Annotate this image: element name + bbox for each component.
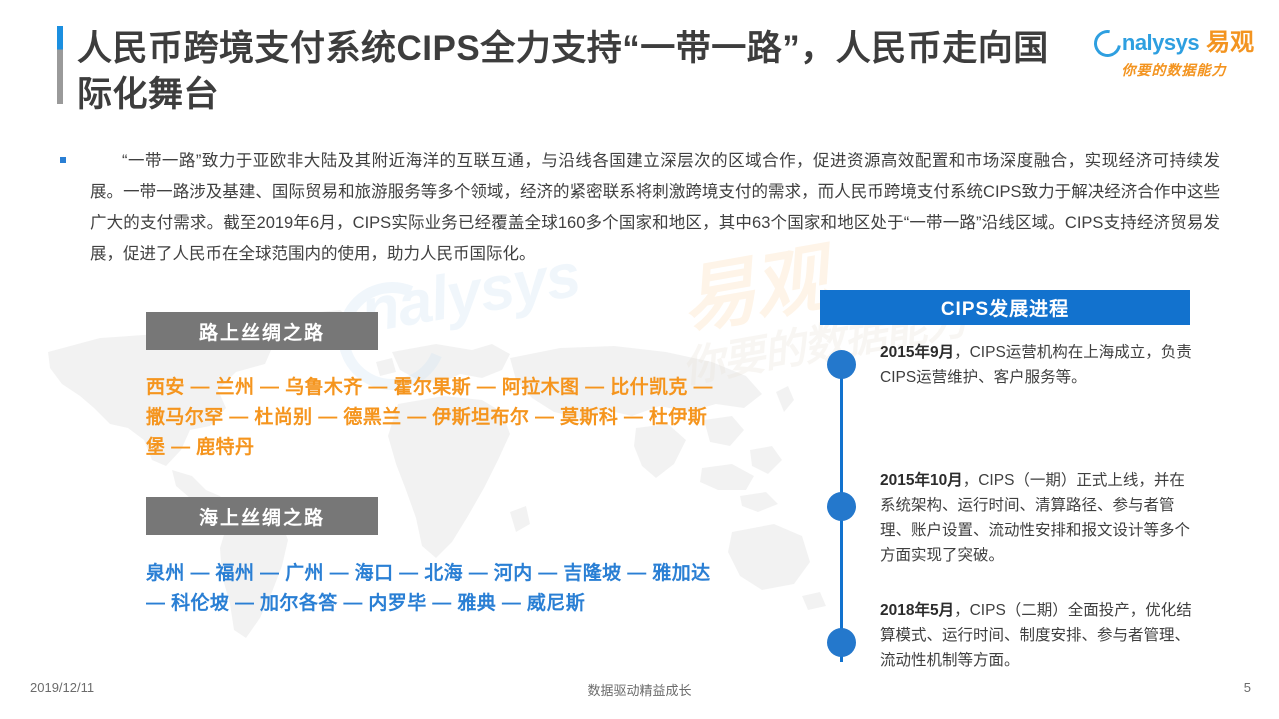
maritime-silk-road-heading: 海上丝绸之路 — [146, 497, 378, 535]
footer-page-number: 5 — [1244, 680, 1251, 695]
logo-main-row: nalysys 易观 — [1081, 29, 1267, 57]
timeline-date: 2015年10月 — [880, 472, 963, 489]
cips-panel-title: CIPS发展进程 — [820, 290, 1190, 325]
timeline-item-text: 2015年9月，CIPS运营机构在上海成立，负责CIPS运营维护、客户服务等。 — [880, 340, 1192, 390]
timeline-dot-icon — [827, 350, 856, 379]
maritime-silk-road-cities: 泉州 — 福州 — 广州 — 海口 — 北海 — 河内 — 吉隆坡 — 雅加达 … — [146, 559, 716, 619]
analysys-logo: nalysys 易观 你要的数据能力 — [1081, 29, 1267, 81]
logo-cn-text: 易观 — [1206, 31, 1254, 55]
timeline-item-text: 2018年5月，CIPS（二期）全面投产，优化结算模式、运行时间、制度安排、参与… — [880, 598, 1192, 673]
bullet-icon — [60, 157, 66, 163]
cips-timeline-panel: CIPS发展进程 2015年9月，CIPS运营机构在上海成立，负责CIPS运营维… — [820, 290, 1190, 670]
logo-tagline: 你要的数据能力 — [1081, 60, 1267, 80]
land-silk-road-heading: 路上丝绸之路 — [146, 312, 378, 350]
timeline-dot-icon — [827, 492, 856, 521]
intro-paragraph: “一带一路”致力于亚欧非大陆及其附近海洋的互联互通，与沿线各国建立深层次的区域合… — [90, 146, 1220, 270]
logo-en-text: nalysys — [1122, 32, 1199, 54]
slide-title-block: 人民币跨境支付系统CIPS全力支持“一带一路”，人民币走向国际化舞台 — [57, 26, 1067, 118]
footer-slogan: 数据驱动精益成长 — [0, 680, 1279, 699]
timeline-dot-icon — [827, 628, 856, 657]
analysys-ring-icon — [1089, 24, 1127, 62]
timeline-date: 2018年5月 — [880, 602, 954, 619]
title-accent-bar — [57, 26, 63, 104]
timeline-item-text: 2015年10月，CIPS（一期）正式上线，并在系统架构、运行时间、清算路径、参… — [880, 468, 1192, 568]
intro-paragraph-row: “一带一路”致力于亚欧非大陆及其附近海洋的互联互通，与沿线各国建立深层次的区域合… — [60, 146, 1220, 270]
slide-footer: 2019/12/11 数据驱动精益成长 5 — [0, 680, 1279, 710]
timeline-date: 2015年9月 — [880, 344, 954, 361]
land-silk-road-cities: 西安 — 兰州 — 乌鲁木齐 — 霍尔果斯 — 阿拉木图 — 比什凯克 — 撒马… — [146, 373, 716, 463]
page-title: 人民币跨境支付系统CIPS全力支持“一带一路”，人民币走向国际化舞台 — [77, 26, 1067, 118]
